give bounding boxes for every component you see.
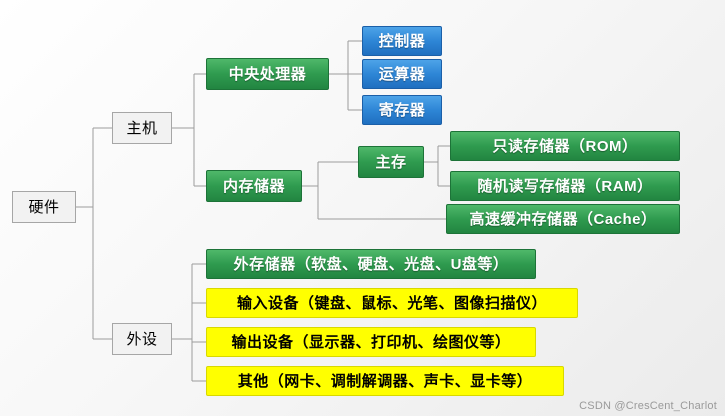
node-label: 其他（网卡、调制解调器、声卡、显卡等）: [238, 374, 533, 389]
node-label: 外设: [126, 332, 157, 347]
node-other-devices[interactable]: 其他（网卡、调制解调器、声卡、显卡等）: [206, 366, 564, 396]
node-label: 硬件: [28, 200, 59, 215]
node-ram[interactable]: 随机读写存储器（RAM）: [450, 171, 680, 201]
node-input-devices[interactable]: 输入设备（键盘、鼠标、光笔、图像扫描仪）: [206, 288, 578, 318]
node-label: 内存储器: [223, 179, 285, 194]
node-label: 输入设备（键盘、鼠标、光笔、图像扫描仪）: [237, 296, 547, 311]
node-label: 主存: [375, 155, 406, 170]
node-rom[interactable]: 只读存储器（ROM）: [450, 131, 680, 161]
node-cpu[interactable]: 中央处理器: [206, 58, 329, 90]
node-label: 控制器: [379, 34, 426, 49]
node-peripheral[interactable]: 外设: [112, 323, 172, 355]
node-alu[interactable]: 运算器: [362, 59, 442, 89]
node-external-storage[interactable]: 外存储器（软盘、硬盘、光盘、U盘等）: [206, 249, 536, 279]
node-label: 只读存储器（ROM）: [493, 139, 638, 154]
node-register[interactable]: 寄存器: [362, 95, 442, 125]
node-label: 寄存器: [379, 103, 426, 118]
node-label: 输出设备（显示器、打印机、绘图仪等）: [231, 335, 510, 350]
node-label: 随机读写存储器（RAM）: [477, 179, 652, 194]
node-hardware[interactable]: 硬件: [12, 191, 76, 223]
node-cache[interactable]: 高速缓冲存储器（Cache）: [446, 204, 680, 234]
node-label: 中央处理器: [229, 67, 307, 82]
node-host[interactable]: 主机: [112, 112, 172, 144]
node-main-memory[interactable]: 主存: [358, 146, 424, 178]
node-output-devices[interactable]: 输出设备（显示器、打印机、绘图仪等）: [206, 327, 536, 357]
node-controller[interactable]: 控制器: [362, 26, 442, 56]
node-label: 高速缓冲存储器（Cache）: [469, 212, 656, 227]
node-internal-memory[interactable]: 内存储器: [206, 170, 302, 202]
node-label: 外存储器（软盘、硬盘、光盘、U盘等）: [234, 257, 509, 272]
node-label: 运算器: [379, 67, 426, 82]
diagram-canvas: 硬件 主机 外设 中央处理器 内存储器 控制器 运算器 寄存器 主存 只读存储器…: [0, 0, 725, 416]
watermark: CSDN @CresCent_Charlot: [579, 400, 717, 412]
node-label: 主机: [126, 121, 157, 136]
